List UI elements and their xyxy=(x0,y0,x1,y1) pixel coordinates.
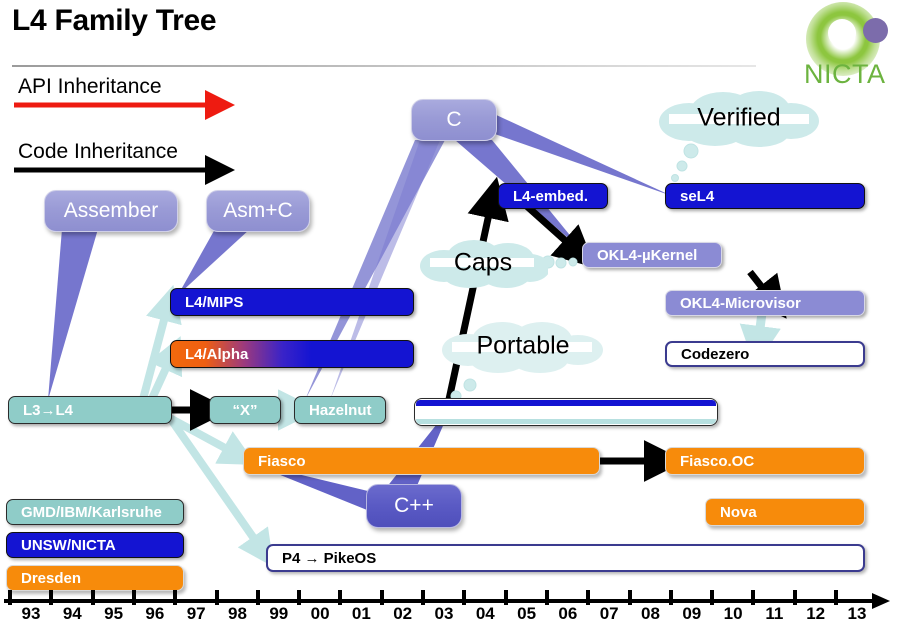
timeline-year-02: 02 xyxy=(386,604,420,624)
timeline-tick xyxy=(338,590,342,605)
bubble-assember-label: Assember xyxy=(64,199,159,223)
timeline-tick xyxy=(380,590,384,605)
legend-api-inheritance-label: API Inheritance xyxy=(18,75,162,99)
timeline-tick xyxy=(8,590,12,605)
page-title: L4 Family Tree xyxy=(12,4,216,38)
timeline-year-98: 98 xyxy=(221,604,255,624)
timeline-year-07: 07 xyxy=(592,604,626,624)
timeline-tick xyxy=(586,590,590,605)
timeline-tick xyxy=(834,590,838,605)
node-fiasco-oc[interactable]: Fiasco.OC xyxy=(665,447,865,475)
timeline-tick xyxy=(545,590,549,605)
node-l4-mips-label: L4/MIPS xyxy=(185,294,243,311)
bubble-asm-plus-c-label: Asm+C xyxy=(223,199,292,223)
timeline-year-08: 08 xyxy=(634,604,668,624)
node-okl4-ukernel-label: OKL4-µKernel xyxy=(597,247,697,264)
timeline-year-10: 10 xyxy=(716,604,750,624)
node-l4-alpha[interactable]: L4/Alpha xyxy=(170,340,414,368)
bubble-c[interactable]: C xyxy=(411,99,497,141)
timeline-tick xyxy=(421,590,425,605)
timeline-tick xyxy=(297,590,301,605)
cloud-caps: Caps xyxy=(418,236,548,290)
node-x-label: “X” xyxy=(232,402,257,419)
node-nova-label: Nova xyxy=(720,504,757,521)
node-l3-to-l4[interactable]: L3→L4 xyxy=(8,396,172,424)
node-unlabeled-kernel[interactable] xyxy=(414,398,718,426)
node-hazelnut[interactable]: Hazelnut xyxy=(294,396,386,424)
timeline-tick xyxy=(669,590,673,605)
timeline-tick xyxy=(462,590,466,605)
logo-wordmark: NICTA xyxy=(804,59,886,90)
legend-origin-unsw-nicta: UNSW/NICTA xyxy=(6,532,184,558)
timeline-tick xyxy=(504,590,508,605)
node-l4-mips[interactable]: L4/MIPS xyxy=(170,288,414,316)
node-hazelnut-label: Hazelnut xyxy=(309,402,372,419)
timeline-year-01: 01 xyxy=(344,604,378,624)
node-l3-to-l4-label: L3→L4 xyxy=(23,402,73,419)
node-l4-embed[interactable]: L4-embed. xyxy=(498,183,608,209)
timeline-year-03: 03 xyxy=(427,604,461,624)
bubble-cpp[interactable]: C++ xyxy=(366,484,462,528)
timeline-year-00: 00 xyxy=(303,604,337,624)
timeline-year-11: 11 xyxy=(757,604,791,624)
node-sel4[interactable]: seL4 xyxy=(665,183,865,209)
node-okl4-microvisor[interactable]: OKL4-Microvisor xyxy=(665,290,865,316)
node-sel4-label: seL4 xyxy=(680,188,714,205)
cloud-verified: Verified xyxy=(655,88,823,148)
cloud-verified-label: Verified xyxy=(655,104,823,133)
cloud-portable: Portable xyxy=(440,318,606,374)
timeline-tick xyxy=(173,590,177,605)
node-p4-pikeos[interactable]: P4 → PikeOS xyxy=(266,544,865,572)
node-l4-alpha-label: L4/Alpha xyxy=(185,346,248,363)
timeline-year-06: 06 xyxy=(551,604,585,624)
node-fiasco-oc-label: Fiasco.OC xyxy=(680,453,754,470)
node-okl4-ukernel[interactable]: OKL4-µKernel xyxy=(582,242,722,268)
header-divider xyxy=(12,65,756,67)
bubble-c-label: C xyxy=(446,108,461,132)
nicta-logo: NICTA xyxy=(800,2,898,94)
legend-origin-gmd-ibm-karlsruhe: GMD/IBM/Karlsruhe xyxy=(6,499,184,525)
node-nova[interactable]: Nova xyxy=(705,498,865,526)
legend-code-inheritance-label: Code Inheritance xyxy=(18,140,178,164)
logo-purple-dot-icon xyxy=(863,18,888,43)
timeline-year-04: 04 xyxy=(468,604,502,624)
cloud-portable-label: Portable xyxy=(440,332,606,361)
bubble-asm-plus-c[interactable]: Asm+C xyxy=(206,190,310,232)
timeline-year-12: 12 xyxy=(799,604,833,624)
logo-white-dot-icon xyxy=(828,19,856,47)
timeline-year-09: 09 xyxy=(675,604,709,624)
timeline-year-93: 93 xyxy=(14,604,48,624)
node-codezero[interactable]: Codezero xyxy=(665,341,865,367)
timeline-year-13: 13 xyxy=(840,604,874,624)
node-okl4-microvisor-label: OKL4-Microvisor xyxy=(680,295,801,312)
bubble-assember[interactable]: Assember xyxy=(44,190,178,232)
node-x[interactable]: “X” xyxy=(209,396,281,424)
timeline-axis: 9394959697989900010203040506070809101112… xyxy=(0,588,901,631)
timeline-year-05: 05 xyxy=(510,604,544,624)
node-codezero-label: Codezero xyxy=(681,346,749,363)
timeline-tick xyxy=(91,590,95,605)
cloud-caps-label: Caps xyxy=(418,249,548,278)
timeline-tick xyxy=(256,590,260,605)
slide-canvas: L4 Family Tree NICTA API Inheritance Cod… xyxy=(0,0,901,631)
timeline-year-99: 99 xyxy=(262,604,296,624)
timeline-tick xyxy=(628,590,632,605)
node-unlabeled-frame xyxy=(414,398,718,426)
timeline-year-95: 95 xyxy=(97,604,131,624)
node-p4-pikeos-label: P4 → PikeOS xyxy=(282,550,376,567)
node-fiasco-label: Fiasco xyxy=(258,453,306,470)
timeline-year-94: 94 xyxy=(55,604,89,624)
node-fiasco[interactable]: Fiasco xyxy=(243,447,600,475)
timeline-tick xyxy=(215,590,219,605)
legend-origin-dresden-label: Dresden xyxy=(21,570,81,587)
timeline-year-97: 97 xyxy=(179,604,213,624)
timeline-tick xyxy=(793,590,797,605)
bubble-cpp-label: C++ xyxy=(394,494,434,518)
node-l4-embed-label: L4-embed. xyxy=(513,188,588,205)
timeline-year-96: 96 xyxy=(138,604,172,624)
timeline-tick xyxy=(49,590,53,605)
timeline-tick xyxy=(751,590,755,605)
legend-origin-unsw-label: UNSW/NICTA xyxy=(21,537,116,554)
legend-origin-gmd-label: GMD/IBM/Karlsruhe xyxy=(21,504,162,521)
timeline-tick xyxy=(132,590,136,605)
timeline-tick xyxy=(710,590,714,605)
